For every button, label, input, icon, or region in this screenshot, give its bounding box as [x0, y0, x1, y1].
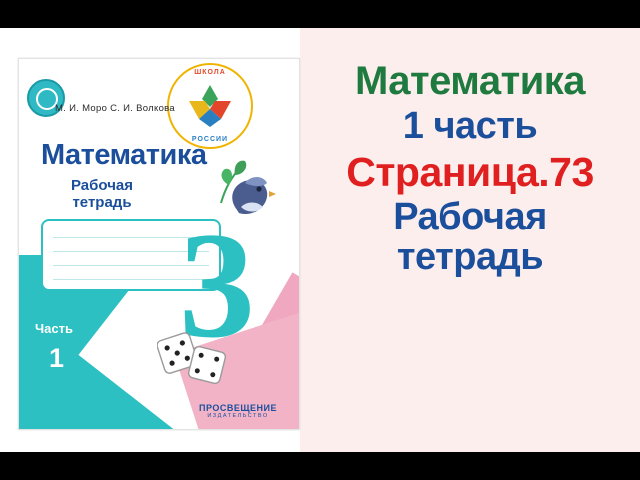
book-authors: М. И. Моро С. И. Волкова — [55, 103, 175, 114]
text-line-part: 1 часть — [300, 106, 640, 146]
emblem-star-icon — [185, 83, 235, 129]
letterbox-bar-top — [0, 0, 640, 28]
school-of-russia-emblem: ШКОЛА РОССИИ — [167, 63, 253, 149]
bird-icon — [225, 167, 277, 228]
dice-icon — [157, 327, 231, 394]
book-subtitle-line2: тетрадь — [71, 194, 133, 211]
text-line-workbook-2: тетрадь — [300, 238, 640, 278]
book-cover-inner: ШКОЛА РОССИИ М. И. Моро С. И. Волкова Ма… — [18, 58, 300, 430]
book-cover-image: ШКОЛА РОССИИ М. И. Моро С. И. Волкова Ма… — [18, 58, 300, 430]
letterbox-bar-bottom — [0, 452, 640, 480]
text-line-page: Страница.73 — [300, 151, 640, 194]
text-line-subject: Математика — [300, 60, 640, 102]
part-number: 1 — [49, 343, 64, 374]
text-line-workbook-1: Рабочая — [300, 198, 640, 238]
book-title: Математика — [41, 139, 206, 172]
book-subtitle: Рабочая тетрадь — [71, 177, 133, 212]
book-subtitle-line1: Рабочая — [71, 177, 133, 194]
publisher-name: ПРОСВЕЩЕНИЕ — [199, 403, 277, 413]
video-thumbnail: ШКОЛА РОССИИ М. И. Моро С. И. Волкова Ма… — [0, 0, 640, 480]
thumbnail-text-block: Математика 1 часть Страница.73 Рабочая т… — [300, 60, 640, 278]
part-label: Часть — [35, 321, 73, 336]
publisher-subtitle: ИЗДАТЕЛЬСТВО — [199, 413, 277, 419]
publisher-logo: ПРОСВЕЩЕНИЕ ИЗДАТЕЛЬСТВО — [199, 403, 277, 419]
emblem-top-label: ШКОЛА — [167, 69, 253, 76]
